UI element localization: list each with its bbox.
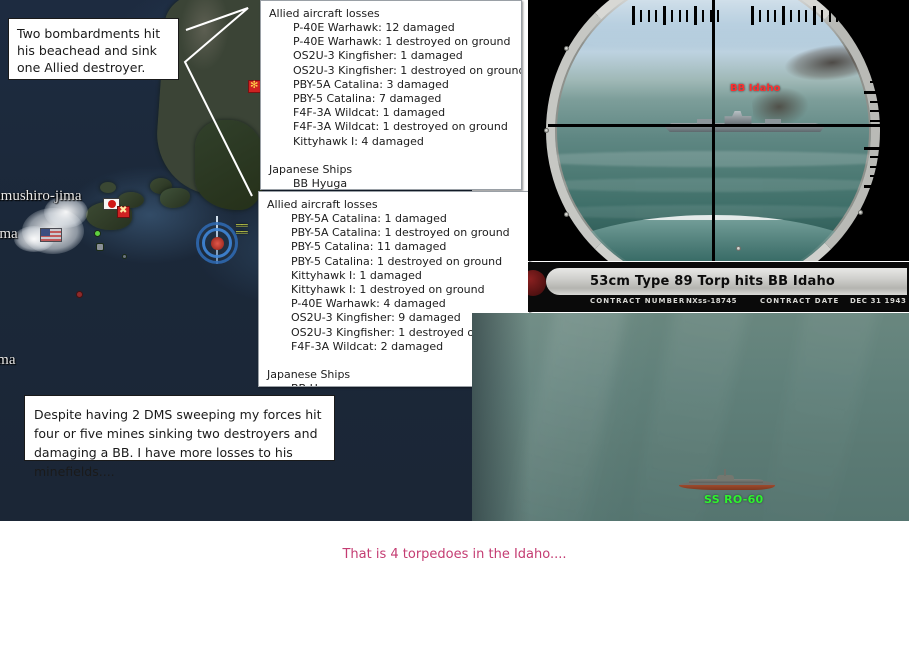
scale-label-12: 12 [807, 0, 825, 4]
contract-date-value: DEC 31 1943 [850, 296, 906, 307]
crosshair-vertical [712, 0, 715, 261]
scale-tick-minor [870, 243, 884, 245]
scale-tick-major [694, 6, 697, 25]
list-item: PBY-5 Catalina: 7 damaged [293, 92, 513, 106]
scale-label-8: 8 [657, 0, 666, 4]
scale-tick-minor [870, 101, 884, 103]
list-item: PBY-5 Catalina: 11 damaged [291, 240, 521, 254]
enemy-ship-idaho [665, 110, 825, 132]
scale-tick-minor [870, 24, 884, 26]
scale-tick-minor [870, 233, 884, 235]
scale-tick-major [632, 6, 635, 25]
map-unit-marker[interactable] [94, 230, 101, 237]
scale-label-8: 8 [888, 177, 897, 192]
scale-label-8: 8 [888, 45, 897, 60]
list-item: Kittyhawk I: 4 damaged [293, 135, 513, 149]
scale-tick-minor [717, 10, 719, 22]
scale-label-12: 12 [888, 6, 906, 21]
list-item: Kittyhawk I: 1 damaged [291, 269, 521, 283]
ship-stack-icon: ════ [236, 222, 247, 236]
scale-tick-minor [870, 33, 884, 35]
map-unit-marker[interactable] [96, 243, 104, 251]
caption-area: That is 4 torpedoes in the Idaho.... [0, 522, 909, 665]
list-item: F4F-3A Wildcat: 1 damaged [293, 106, 513, 120]
report-header: Allied aircraft losses [269, 6, 513, 21]
scale-tick-minor [767, 10, 769, 22]
scale-label-8: 8 [776, 0, 785, 4]
periscope-view: BB Idaho 12844812 12844812 [528, 0, 909, 261]
aircraft-loss-list: P-40E Warhawk: 12 damagedP-40E Warhawk: … [269, 21, 513, 149]
scale-tick-minor [870, 214, 884, 216]
scale-tick-minor [702, 10, 704, 22]
scale-tick-minor [870, 110, 884, 112]
scale-label-4: 4 [688, 0, 697, 4]
task-force-marker[interactable] [196, 222, 238, 264]
scale-tick-minor [710, 10, 712, 22]
scale-tick-major [864, 224, 886, 227]
scale-tick-minor [790, 10, 792, 22]
scale-tick-minor [821, 10, 823, 22]
scale-tick-major [864, 53, 886, 56]
scale-tick-minor [870, 175, 884, 177]
scale-tick-major [864, 91, 886, 94]
contract-date-label: CONTRACT DATE [760, 296, 839, 307]
list-item: P-40E Warhawk: 1 destroyed on ground [293, 35, 513, 49]
list-item: PBY-5A Catalina: 1 destroyed on ground [291, 226, 521, 240]
lens-rivet [564, 46, 569, 51]
scale-tick-minor [686, 10, 688, 22]
torpedo-hit-message: 53cm Type 89 Torp hits BB Idaho [528, 268, 897, 295]
scale-tick-major [864, 147, 886, 150]
scale-label-12: 12 [888, 216, 906, 231]
caption-text: That is 4 torpedoes in the Idaho.... [0, 547, 909, 562]
scale-tick-minor [870, 166, 884, 168]
light-ray [502, 313, 633, 521]
lens-rivet [564, 212, 569, 217]
list-item: OS2U-3 Kingfisher: 1 destroyed on ground [293, 64, 513, 78]
scale-label-4: 4 [745, 0, 754, 4]
screenshot-root: ════ amushiro-jima jima ima Two bombardm… [0, 0, 909, 665]
landmass-south [195, 120, 265, 210]
lens-rivet [858, 210, 863, 215]
lens-rivet [736, 246, 741, 251]
scale-tick-minor [679, 10, 681, 22]
scale-tick-minor [870, 204, 884, 206]
scale-tick-minor [805, 10, 807, 22]
callout-bombardment: Two bombardments hit his beachead and si… [8, 18, 179, 80]
scale-tick-minor [870, 62, 884, 64]
ships-header: Japanese Ships [269, 162, 513, 177]
list-item: PBY-5 Catalina: 1 destroyed on ground [291, 255, 521, 269]
ship-list: BB Hyuga [269, 177, 513, 190]
island-5 [160, 188, 190, 208]
target-label-bb-idaho: BB Idaho [730, 83, 780, 94]
scale-tick-minor [870, 72, 884, 74]
list-item: PBY-5A Catalina: 1 damaged [291, 212, 521, 226]
scale-label-4: 4 [888, 139, 897, 154]
scale-tick-minor [774, 10, 776, 22]
scale-tick-minor [870, 252, 884, 254]
contract-number-label: CONTRACT NUMBER [590, 296, 685, 307]
scale-tick-minor [759, 10, 761, 22]
contract-number-value: NXss-18745 [686, 296, 737, 307]
list-item: Kittyhawk I: 1 destroyed on ground [291, 283, 521, 297]
map-unit-marker[interactable] [122, 254, 127, 259]
scale-tick-minor [870, 195, 884, 197]
callout-bombardment-text: Two bombardments hit his beachead and si… [17, 26, 160, 75]
crosshair-horizontal [548, 124, 909, 127]
map-label-jima-3: ima [0, 352, 16, 369]
island-3 [100, 182, 116, 193]
scale-tick-minor [640, 10, 642, 22]
scale-tick-major [813, 6, 816, 25]
report-spacer [269, 149, 513, 162]
scale-tick-minor [798, 10, 800, 22]
ship-superstructure [717, 111, 759, 124]
scale-tick-minor [870, 81, 884, 83]
map-unit-marker[interactable] [76, 291, 83, 298]
submarine-ro-60 [679, 476, 775, 492]
scale-label-4: 4 [888, 83, 897, 98]
submarine-periscope-mast [724, 469, 726, 476]
list-item: BB Hyuga [293, 177, 513, 190]
scale-tick-major [663, 6, 666, 25]
scale-tick-major [751, 6, 754, 25]
lens-rivet [544, 128, 549, 133]
list-item: P-40E Warhawk: 4 damaged [291, 297, 521, 311]
combat-report-panel-top[interactable]: Allied aircraft losses P-40E Warhawk: 12… [260, 0, 522, 190]
scale-tick-minor [671, 10, 673, 22]
scale-tick-minor [870, 43, 884, 45]
callout-minefields: Despite having 2 DMS sweeping my forces … [24, 395, 335, 461]
japanese-base-marker-icon[interactable] [117, 206, 130, 218]
report-header: Allied aircraft losses [267, 197, 521, 212]
list-item: PBY-5A Catalina: 3 damaged [293, 78, 513, 92]
map-label-jima-2: jima [0, 226, 18, 243]
torpedo-hit-banner: 53cm Type 89 Torp hits BB Idaho CONTRACT… [528, 262, 909, 312]
list-item: F4F-3A Wildcat: 1 destroyed on ground [293, 120, 513, 134]
scale-label-12: 12 [626, 0, 644, 4]
scale-tick-minor [648, 10, 650, 22]
scale-tick-minor [836, 10, 838, 22]
task-force-core [211, 237, 224, 250]
scale-tick-major [782, 6, 785, 25]
scale-tick-major [864, 14, 886, 17]
submarine-label: SS RO-60 [704, 493, 763, 506]
list-item: OS2U-3 Kingfisher: 1 damaged [293, 49, 513, 63]
list-item: P-40E Warhawk: 12 damaged [293, 21, 513, 35]
map-label-paramushiro: amushiro-jima [0, 188, 81, 205]
allied-flag-icon[interactable] [40, 228, 62, 242]
scale-tick-minor [870, 156, 884, 158]
scale-tick-minor [829, 10, 831, 22]
scale-tick-minor [870, 120, 884, 122]
scale-tick-major [864, 185, 886, 188]
scale-tick-minor [655, 10, 657, 22]
